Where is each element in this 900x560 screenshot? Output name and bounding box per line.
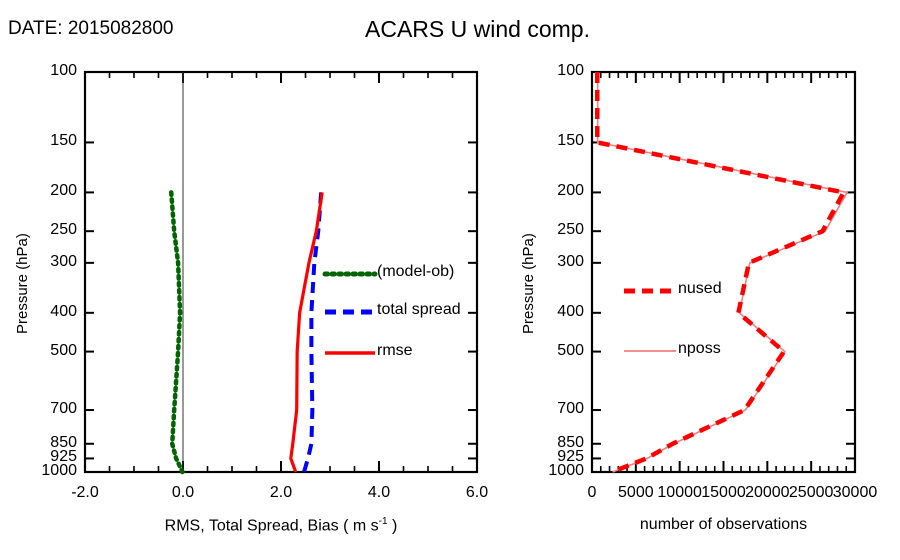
y-tick-label: 100 bbox=[526, 62, 584, 80]
x-tick-label: 30000 bbox=[795, 484, 900, 502]
series-nused bbox=[597, 72, 843, 472]
x-tick-label: 6.0 bbox=[417, 484, 537, 502]
y-tick-label: 150 bbox=[19, 132, 77, 150]
legend-label--model-ob-: (model-ob) bbox=[377, 263, 454, 281]
legend-label-nposs: nposs bbox=[678, 340, 721, 358]
y-tick-label: 700 bbox=[526, 400, 584, 418]
y-tick-label: 200 bbox=[526, 182, 584, 200]
y-tick-label: 200 bbox=[19, 182, 77, 200]
y-tick-label: 500 bbox=[526, 342, 584, 360]
y-tick-label: 700 bbox=[19, 400, 77, 418]
y-tick-label: 1000 bbox=[19, 462, 77, 480]
y-tick-label: 100 bbox=[19, 62, 77, 80]
legend-label-rmse: rmse bbox=[377, 342, 413, 360]
right-x-axis-title: number of observations bbox=[532, 516, 900, 534]
figure-root: DATE: 2015082800 ACARS U wind comp. 1001… bbox=[0, 0, 900, 560]
y-tick-label: 150 bbox=[526, 132, 584, 150]
left-y-axis-title: Pressure (hPa) bbox=[14, 233, 31, 334]
y-tick-label: 500 bbox=[19, 342, 77, 360]
left-x-axis-title: RMS, Total Spread, Bias ( m s-1 ) bbox=[5, 516, 557, 535]
right-y-axis-title: Pressure (hPa) bbox=[520, 233, 537, 334]
series-nposs bbox=[598, 72, 847, 472]
legend-label-total-spread: total spread bbox=[377, 301, 461, 319]
legend-label-nused: nused bbox=[678, 280, 722, 298]
y-tick-label: 1000 bbox=[526, 462, 584, 480]
